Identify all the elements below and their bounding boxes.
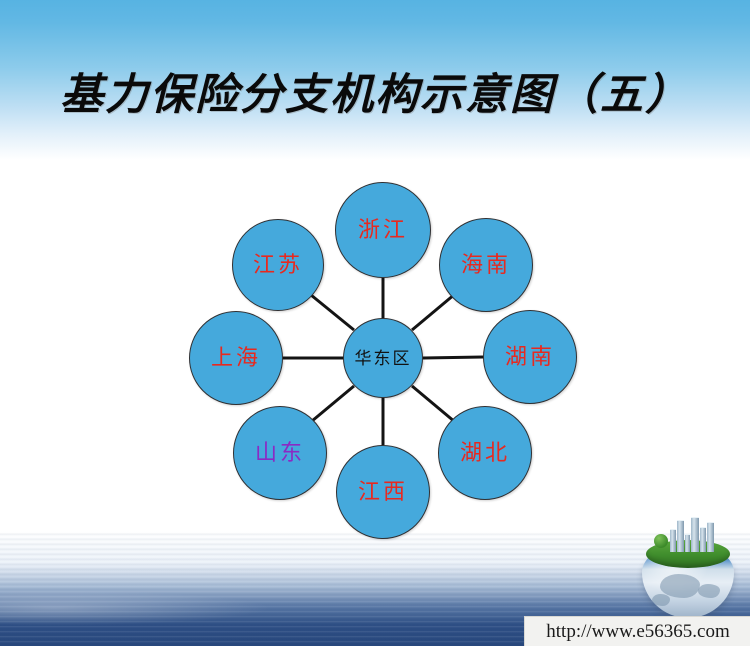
node-zhejiang[interactable]: 浙江 xyxy=(335,182,431,278)
node-jiangsu-label: 江苏 xyxy=(253,254,303,276)
globe-landmass xyxy=(652,594,670,606)
node-huadong-hub[interactable]: 华东区 xyxy=(343,318,423,398)
building xyxy=(677,520,684,552)
building xyxy=(685,534,690,552)
tree-icon xyxy=(654,534,668,548)
edge-to-jiangsu xyxy=(311,295,354,330)
node-hubei-label: 湖北 xyxy=(460,442,510,464)
building xyxy=(691,517,699,552)
footer-url-text[interactable]: http://www.e56365.com xyxy=(546,621,729,643)
node-hunan[interactable]: 湖南 xyxy=(483,310,577,404)
footer-url-bar: http://www.e56365.com xyxy=(524,616,750,646)
node-jiangxi[interactable]: 江西 xyxy=(336,445,430,539)
building xyxy=(707,522,714,552)
node-shandong-label: 山东 xyxy=(255,442,305,464)
building xyxy=(700,527,706,552)
node-shanghai-label: 上海 xyxy=(211,347,261,369)
edge-to-hunan xyxy=(423,357,483,358)
node-hunan-label: 湖南 xyxy=(505,346,555,368)
node-jiangxi-label: 江西 xyxy=(358,481,408,503)
node-hainan-label: 海南 xyxy=(461,254,511,276)
slide-canvas: 基力保险分支机构示意图（五） 浙江 海南 湖南 湖北 江西 xyxy=(0,0,750,646)
globe-landmass xyxy=(698,584,720,598)
edge-to-hainan xyxy=(412,294,455,330)
node-shanghai[interactable]: 上海 xyxy=(189,311,283,405)
node-shandong[interactable]: 山东 xyxy=(233,406,327,500)
edge-to-hubei xyxy=(412,386,455,422)
node-zhejiang-label: 浙江 xyxy=(358,219,408,241)
node-jiangsu[interactable]: 江苏 xyxy=(232,219,324,311)
city-skyline-icon xyxy=(670,518,716,552)
node-hainan[interactable]: 海南 xyxy=(439,218,533,312)
building xyxy=(670,529,676,552)
node-hubei[interactable]: 湖北 xyxy=(438,406,532,500)
edge-to-shandong xyxy=(312,386,354,421)
globe-city-logo xyxy=(634,516,742,620)
node-huadong-hub-label: 华东区 xyxy=(355,350,412,367)
